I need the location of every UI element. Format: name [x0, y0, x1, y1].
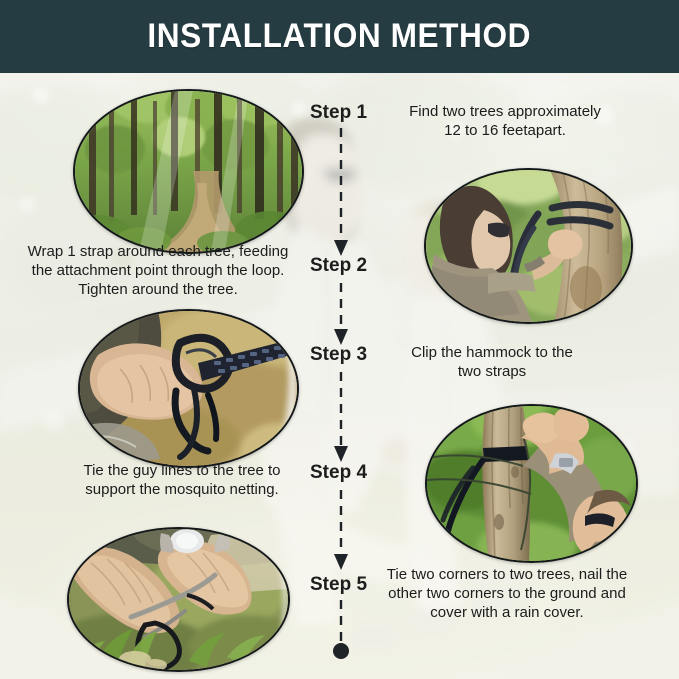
step-3-label: Step 3: [310, 344, 367, 366]
step-4-label: Step 4: [310, 462, 367, 484]
installation-method-infographic: INSTALLATION METHOD: [0, 0, 679, 679]
carabiner-clip-photo: [78, 309, 299, 468]
step-1-text: Find two trees approximately 12 to 16 fe…: [382, 103, 628, 141]
connector-1-to-2: [325, 128, 357, 258]
step-4-text: Tie the guy lines to the tree to support…: [68, 462, 296, 500]
forest-path-photo: [73, 89, 304, 254]
page-title: INSTALLATION METHOD: [148, 17, 532, 56]
connector-end-marker: [325, 600, 357, 662]
step-1-label: Step 1: [310, 102, 367, 124]
connector-4-to-5: [325, 490, 357, 572]
step-2-text: Wrap 1 strap around each tree, feeding t…: [18, 243, 298, 299]
step-3-text: Clip the hammock to the two straps: [382, 344, 602, 382]
strap-around-tree-photo: [424, 168, 633, 324]
step-5-label: Step 5: [310, 574, 367, 596]
header-bar: INSTALLATION METHOD: [0, 0, 679, 73]
connector-3-to-4: [325, 372, 357, 464]
ground-stake-photo: [67, 527, 290, 672]
guy-line-tie-photo: [425, 404, 638, 563]
connector-2-to-3: [325, 283, 357, 347]
step-5-text: Tie two corners to two trees, nail the o…: [378, 566, 636, 622]
step-2-label: Step 2: [310, 255, 367, 277]
